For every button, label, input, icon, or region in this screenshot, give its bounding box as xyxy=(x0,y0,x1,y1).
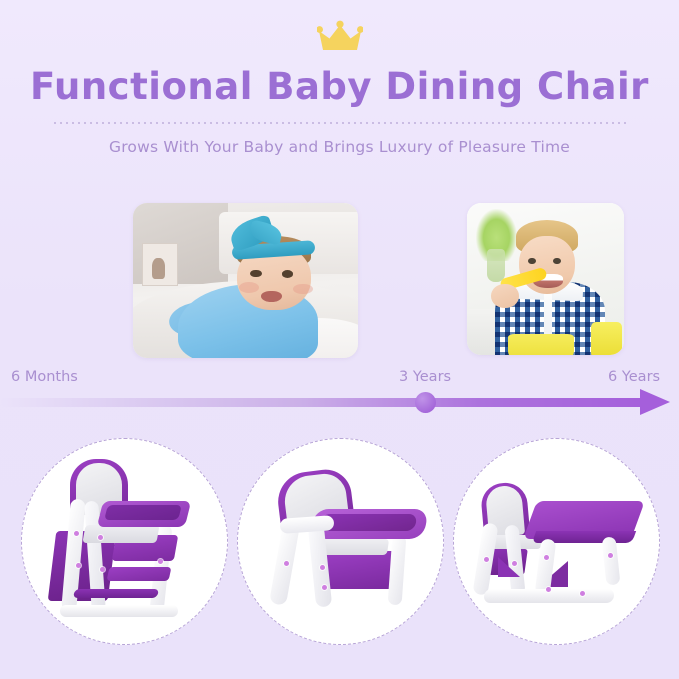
product-circle-chair-and-table xyxy=(453,438,660,645)
crown-icon xyxy=(0,16,679,58)
timeline-track xyxy=(0,398,648,407)
timeline-marker-dot xyxy=(415,392,436,413)
page-title: Functional Baby Dining Chair xyxy=(0,58,679,114)
timeline-label-6-months: 6 Months xyxy=(11,369,78,385)
page-subtitle: Grows With Your Baby and Brings Luxury o… xyxy=(0,134,679,160)
product-circle-low-chair xyxy=(237,438,444,645)
dotted-divider xyxy=(52,122,627,124)
photo-baby-crawling xyxy=(133,203,358,358)
infographic-page: Functional Baby Dining Chair Grows With … xyxy=(0,0,679,679)
timeline-arrow-icon xyxy=(640,389,670,415)
timeline-label-6-years: 6 Years xyxy=(608,369,660,385)
timeline-label-3-years: 3 Years xyxy=(399,369,451,385)
photo-baby-eating xyxy=(467,203,624,355)
product-circle-high-chair-tall xyxy=(21,438,228,645)
